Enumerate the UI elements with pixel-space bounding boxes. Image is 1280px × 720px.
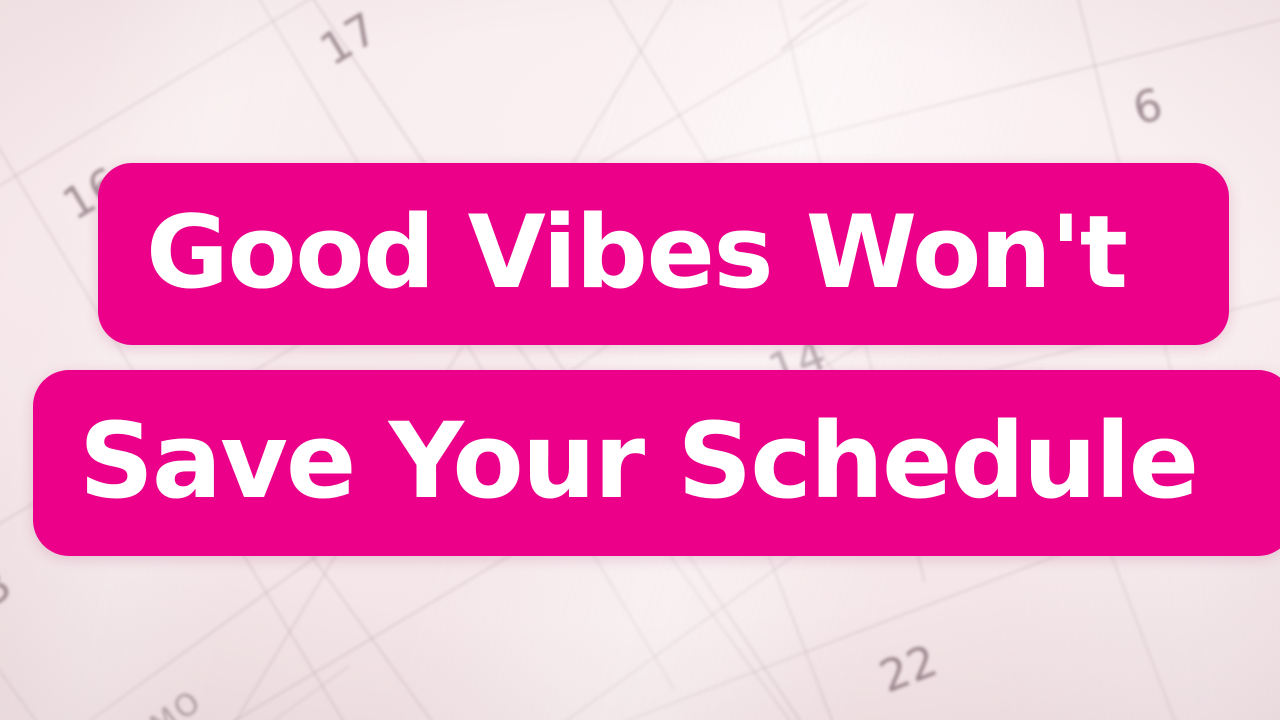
headline-bar-line-2: Save Your Schedule <box>33 370 1280 556</box>
calendar-memo-label: MEMO <box>103 683 210 720</box>
headline-bar-line-1: Good Vibes Won't <box>98 163 1229 345</box>
calendar-grid-upper-left: 16 17 23 3 <box>0 0 1120 720</box>
poster-canvas: 16 17 23 3 金 土 5 6 8 <box>0 0 1280 720</box>
calendar-day-number: 22 <box>873 635 944 703</box>
background-photo: 16 17 23 3 金 土 5 6 8 <box>0 0 1280 720</box>
background-blur-layer: 16 17 23 3 金 土 5 6 8 <box>0 0 1280 720</box>
headline-text-line-1: Good Vibes Won't <box>146 202 1127 303</box>
calendar-day-number: 17 <box>312 3 387 76</box>
calendar-day-number: 6 <box>1128 79 1168 135</box>
headline-text-line-2: Save Your Schedule <box>79 409 1197 513</box>
calendar-day-number: 23 <box>0 559 21 632</box>
calendar-fold-lines <box>0 0 1280 720</box>
